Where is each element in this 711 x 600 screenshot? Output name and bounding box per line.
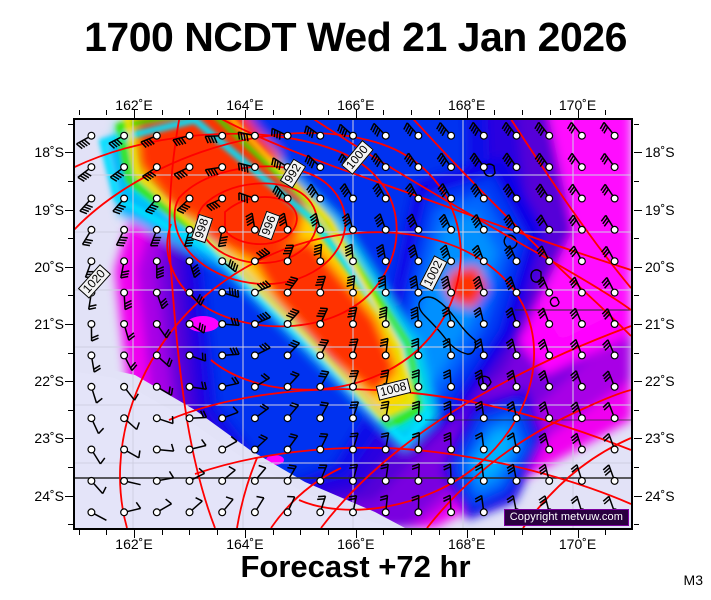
station-marker — [513, 446, 520, 453]
lon-tick-top-minor — [106, 110, 107, 115]
wind-barb-feather — [349, 467, 356, 468]
lat-tick-left — [65, 381, 73, 382]
station-marker — [186, 258, 193, 265]
station-marker — [252, 352, 259, 359]
station-marker — [480, 226, 487, 233]
wind-barb-feather — [349, 345, 356, 346]
lon-tick-bottom-minor — [273, 530, 274, 535]
wind-barb-feather — [119, 240, 127, 241]
station-marker — [513, 478, 520, 485]
station-marker — [121, 195, 128, 202]
station-marker — [415, 195, 422, 202]
station-marker — [153, 352, 160, 359]
station-marker — [546, 415, 553, 422]
wind-barb-feather — [244, 165, 245, 172]
station-marker — [219, 509, 226, 516]
lon-tick-top-minor — [217, 110, 218, 115]
station-marker — [317, 352, 324, 359]
station-marker — [121, 352, 128, 359]
station-marker — [350, 195, 357, 202]
station-marker — [579, 446, 586, 453]
wind-barb-feather — [247, 165, 248, 173]
station-marker — [513, 226, 520, 233]
station-marker — [350, 289, 357, 296]
station-marker — [186, 195, 193, 202]
station-marker — [546, 383, 553, 390]
wind-barb-feather — [235, 289, 236, 296]
station-marker — [480, 289, 487, 296]
map-graphic — [75, 120, 631, 528]
station-marker — [611, 446, 618, 453]
station-marker — [579, 383, 586, 390]
lat-tick-right-minor — [634, 238, 639, 239]
station-marker — [415, 383, 422, 390]
lon-tick-bottom-minor — [189, 530, 190, 535]
station-marker — [382, 478, 389, 485]
station-marker — [121, 446, 128, 453]
lat-tick-left-minor — [68, 238, 73, 239]
station-marker — [579, 478, 586, 485]
station-marker — [219, 321, 226, 328]
station-marker — [448, 321, 455, 328]
station-marker — [448, 446, 455, 453]
station-marker — [480, 446, 487, 453]
lon-label-top: 166˚E — [337, 97, 374, 113]
wind-barb-feather — [320, 308, 328, 309]
station-marker — [448, 164, 455, 171]
station-marker — [448, 195, 455, 202]
lat-label-right: 18˚S — [645, 144, 675, 160]
lon-tick-top-minor — [439, 110, 440, 115]
station-marker — [153, 478, 160, 485]
station-marker — [317, 258, 324, 265]
lon-tick-bottom-minor — [439, 530, 440, 535]
wind-barb-feather — [238, 163, 239, 170]
station-marker — [579, 289, 586, 296]
station-marker — [350, 258, 357, 265]
station-marker — [153, 164, 160, 171]
station-marker — [382, 415, 389, 422]
lat-tick-right — [634, 267, 642, 268]
lat-tick-left — [65, 267, 73, 268]
station-marker — [317, 478, 324, 485]
wind-barb-feather — [350, 436, 358, 437]
station-marker — [153, 321, 160, 328]
station-marker — [88, 164, 95, 171]
station-marker — [513, 164, 520, 171]
station-marker — [252, 478, 259, 485]
wind-barb-feather — [318, 376, 325, 377]
station-marker — [317, 383, 324, 390]
lon-tick-bottom-minor — [605, 530, 606, 535]
station-marker — [219, 383, 226, 390]
lon-label-top: 162˚E — [115, 97, 152, 113]
wind-barb-feather — [230, 288, 231, 295]
station-marker — [415, 321, 422, 328]
lat-label-right: 20˚S — [645, 259, 675, 275]
station-marker — [448, 415, 455, 422]
station-marker — [611, 164, 618, 171]
station-marker — [252, 415, 259, 422]
station-marker — [415, 352, 422, 359]
lat-label-left: 21˚S — [34, 316, 64, 332]
station-marker — [219, 415, 226, 422]
station-marker — [88, 415, 95, 422]
station-marker — [219, 164, 226, 171]
station-marker — [415, 446, 422, 453]
wind-barb-feather — [186, 240, 194, 241]
map-canvas: 992 1000 998 996 1002 1008 1020 Copyrigh… — [75, 120, 631, 528]
station-marker — [219, 352, 226, 359]
station-marker — [480, 415, 487, 422]
station-marker — [284, 195, 291, 202]
lon-tick-bottom-minor — [494, 530, 495, 535]
wind-barb-feather — [321, 340, 328, 341]
model-id-label: M3 — [684, 572, 703, 588]
station-marker — [88, 478, 95, 485]
lon-tick-top-minor — [550, 110, 551, 115]
wind-barb-feather — [277, 131, 278, 138]
lat-tick-right-minor — [634, 524, 639, 525]
station-marker — [186, 509, 193, 516]
station-marker — [382, 258, 389, 265]
station-marker — [513, 383, 520, 390]
lon-tick-bottom-minor — [550, 530, 551, 535]
station-marker — [448, 509, 455, 516]
lat-label-right: 24˚S — [645, 488, 675, 504]
station-marker — [579, 321, 586, 328]
station-marker — [284, 478, 291, 485]
station-marker — [121, 383, 128, 390]
station-marker — [88, 383, 95, 390]
lat-tick-left-minor — [68, 295, 73, 296]
wind-barb-feather — [320, 374, 328, 375]
station-marker — [153, 195, 160, 202]
lon-tick-bottom-minor — [106, 530, 107, 535]
lat-tick-right — [634, 210, 642, 211]
station-marker — [513, 289, 520, 296]
station-marker — [513, 258, 520, 265]
forecast-map[interactable]: 992 1000 998 996 1002 1008 1020 Copyrigh… — [73, 118, 633, 530]
station-marker — [186, 383, 193, 390]
lon-tick-bottom-minor — [162, 530, 163, 535]
station-marker — [350, 509, 357, 516]
station-marker — [382, 321, 389, 328]
station-marker — [382, 132, 389, 139]
lat-tick-right — [634, 152, 642, 153]
forecast-label: Forecast +72 hr — [0, 549, 711, 585]
station-marker — [448, 226, 455, 233]
wind-barb-feather — [321, 402, 328, 403]
lat-tick-right-minor — [634, 295, 639, 296]
station-marker — [284, 226, 291, 233]
station-marker — [546, 258, 553, 265]
station-marker — [186, 478, 193, 485]
station-marker — [415, 478, 422, 485]
wind-barb-feather — [317, 279, 325, 280]
station-marker — [579, 226, 586, 233]
station-marker — [415, 509, 422, 516]
station-marker — [546, 226, 553, 233]
station-marker — [448, 258, 455, 265]
station-marker — [350, 132, 357, 139]
wind-barb-feather — [232, 288, 233, 295]
lon-tick-top-minor — [273, 110, 274, 115]
station-marker — [252, 446, 259, 453]
wind-barb-feather — [318, 345, 325, 346]
station-marker — [121, 509, 128, 516]
lon-tick-bottom-minor — [300, 530, 301, 535]
station-marker — [186, 321, 193, 328]
station-marker — [579, 164, 586, 171]
station-marker — [382, 164, 389, 171]
station-marker — [88, 321, 95, 328]
station-marker — [448, 478, 455, 485]
station-marker — [252, 321, 259, 328]
station-marker — [88, 446, 95, 453]
lon-tick-bottom-minor — [217, 530, 218, 535]
station-marker — [382, 289, 389, 296]
lat-tick-left-minor — [68, 181, 73, 182]
lat-label-left: 20˚S — [34, 259, 64, 275]
wind-barb-feather — [320, 405, 327, 406]
lon-tick-top-minor — [162, 110, 163, 115]
station-marker — [611, 289, 618, 296]
station-marker — [611, 195, 618, 202]
station-marker — [153, 289, 160, 296]
lat-label-right: 22˚S — [645, 373, 675, 389]
station-marker — [88, 132, 95, 139]
station-marker — [546, 195, 553, 202]
wind-barb-feather — [241, 164, 242, 171]
station-marker — [480, 132, 487, 139]
lon-tick-top-minor — [522, 110, 523, 115]
station-marker — [546, 478, 553, 485]
station-marker — [284, 321, 291, 328]
station-marker — [284, 132, 291, 139]
station-marker — [219, 446, 226, 453]
lon-tick-bottom-minor — [328, 530, 329, 535]
station-marker — [448, 352, 455, 359]
station-marker — [88, 509, 95, 516]
station-marker — [284, 509, 291, 516]
station-marker — [186, 446, 193, 453]
station-marker — [611, 478, 618, 485]
station-marker — [611, 258, 618, 265]
station-marker — [546, 446, 553, 453]
station-marker — [611, 352, 618, 359]
station-marker — [480, 478, 487, 485]
station-marker — [546, 164, 553, 171]
lat-label-left: 18˚S — [34, 144, 64, 160]
station-marker — [317, 321, 324, 328]
station-marker — [382, 226, 389, 233]
station-marker — [186, 164, 193, 171]
station-marker — [252, 289, 259, 296]
station-marker — [88, 258, 95, 265]
wind-barb-feather — [118, 243, 126, 244]
station-marker — [350, 226, 357, 233]
lon-tick-bottom-minor — [411, 530, 412, 535]
station-marker — [513, 352, 520, 359]
station-marker — [284, 258, 291, 265]
wind-barb-feather — [315, 285, 323, 286]
station-marker — [317, 164, 324, 171]
lon-tick-top-minor — [494, 110, 495, 115]
lon-tick-top-minor — [189, 110, 190, 115]
station-marker — [88, 195, 95, 202]
lat-tick-left-minor — [68, 353, 73, 354]
station-marker — [252, 132, 259, 139]
station-marker — [121, 258, 128, 265]
lat-label-right: 19˚S — [645, 202, 675, 218]
station-marker — [415, 226, 422, 233]
station-marker — [219, 132, 226, 139]
lat-tick-right-minor — [634, 353, 639, 354]
wind-barb-feather — [318, 496, 325, 497]
station-marker — [350, 352, 357, 359]
station-marker — [415, 258, 422, 265]
station-marker — [153, 446, 160, 453]
station-marker — [219, 226, 226, 233]
lon-tick-bottom-minor — [383, 530, 384, 535]
station-marker — [317, 226, 324, 233]
station-marker — [480, 258, 487, 265]
station-marker — [252, 258, 259, 265]
lon-tick-top-minor — [328, 110, 329, 115]
station-marker — [284, 352, 291, 359]
copyright-notice: Copyright metvuw.com — [504, 509, 629, 526]
station-marker — [121, 321, 128, 328]
station-marker — [317, 446, 324, 453]
station-marker — [579, 415, 586, 422]
station-marker — [415, 289, 422, 296]
station-marker — [448, 132, 455, 139]
wind-barb-feather — [117, 245, 125, 246]
lon-label-top: 170˚E — [559, 97, 596, 113]
lon-tick-bottom-minor — [522, 530, 523, 535]
station-marker — [546, 289, 553, 296]
page-title: 1700 NCDT Wed 21 Jan 2026 — [0, 14, 711, 61]
station-marker — [579, 352, 586, 359]
station-marker — [579, 132, 586, 139]
station-marker — [546, 132, 553, 139]
station-marker — [611, 415, 618, 422]
lat-tick-right-minor — [634, 467, 639, 468]
lat-tick-right — [634, 324, 642, 325]
station-marker — [350, 478, 357, 485]
station-marker — [317, 132, 324, 139]
station-marker — [284, 446, 291, 453]
station-marker — [153, 132, 160, 139]
station-marker — [480, 352, 487, 359]
station-marker — [350, 446, 357, 453]
station-marker — [415, 132, 422, 139]
lat-tick-left-minor — [68, 124, 73, 125]
wind-barb-feather — [238, 290, 239, 297]
wind-barb-feather — [316, 316, 323, 317]
station-marker — [611, 132, 618, 139]
wind-barb-feather — [318, 276, 326, 277]
station-marker — [611, 383, 618, 390]
station-marker — [252, 164, 259, 171]
station-marker — [611, 226, 618, 233]
station-marker — [382, 195, 389, 202]
station-marker — [252, 509, 259, 516]
lat-tick-right — [634, 381, 642, 382]
lon-tick-top-minor — [383, 110, 384, 115]
lat-tick-left-minor — [68, 467, 73, 468]
station-marker — [448, 383, 455, 390]
station-marker — [88, 226, 95, 233]
wind-barb-feather — [186, 243, 194, 244]
station-marker — [415, 415, 422, 422]
station-marker — [219, 258, 226, 265]
lat-tick-right — [634, 496, 642, 497]
wind-barb-feather — [317, 499, 325, 500]
station-marker — [579, 195, 586, 202]
wind-barb-feather — [280, 132, 281, 140]
lat-tick-left-minor — [68, 524, 73, 525]
wind-barb-feather — [319, 436, 327, 437]
lat-label-left: 23˚S — [34, 430, 64, 446]
station-marker — [284, 415, 291, 422]
lat-tick-right-minor — [634, 124, 639, 125]
lat-label-right: 21˚S — [645, 316, 675, 332]
station-marker — [513, 195, 520, 202]
wind-barb-feather — [272, 128, 273, 135]
station-marker — [186, 132, 193, 139]
station-marker — [121, 478, 128, 485]
lat-tick-left — [65, 210, 73, 211]
lat-tick-left-minor — [68, 410, 73, 411]
station-marker — [480, 321, 487, 328]
station-marker — [317, 509, 324, 516]
wind-barb-feather — [274, 130, 275, 138]
station-marker — [350, 415, 357, 422]
station-marker — [153, 226, 160, 233]
station-marker — [284, 383, 291, 390]
station-marker — [153, 258, 160, 265]
station-marker — [350, 383, 357, 390]
station-marker — [317, 415, 324, 422]
wind-barb-feather — [350, 465, 358, 466]
lon-tick-top-minor — [605, 110, 606, 115]
lat-tick-left — [65, 324, 73, 325]
lat-tick-right-minor — [634, 181, 639, 182]
station-marker — [611, 321, 618, 328]
station-marker — [121, 132, 128, 139]
station-marker — [579, 258, 586, 265]
station-marker — [252, 383, 259, 390]
lat-tick-left — [65, 496, 73, 497]
station-marker — [121, 226, 128, 233]
station-marker — [219, 289, 226, 296]
wind-barb-feather — [350, 339, 358, 340]
station-marker — [317, 195, 324, 202]
station-marker — [546, 352, 553, 359]
station-marker — [350, 321, 357, 328]
lat-tick-right-minor — [634, 410, 639, 411]
lat-tick-left — [65, 438, 73, 439]
station-marker — [513, 321, 520, 328]
station-marker — [153, 383, 160, 390]
station-marker — [121, 164, 128, 171]
lat-tick-right — [634, 438, 642, 439]
station-marker — [480, 509, 487, 516]
station-marker — [186, 352, 193, 359]
station-marker — [480, 164, 487, 171]
